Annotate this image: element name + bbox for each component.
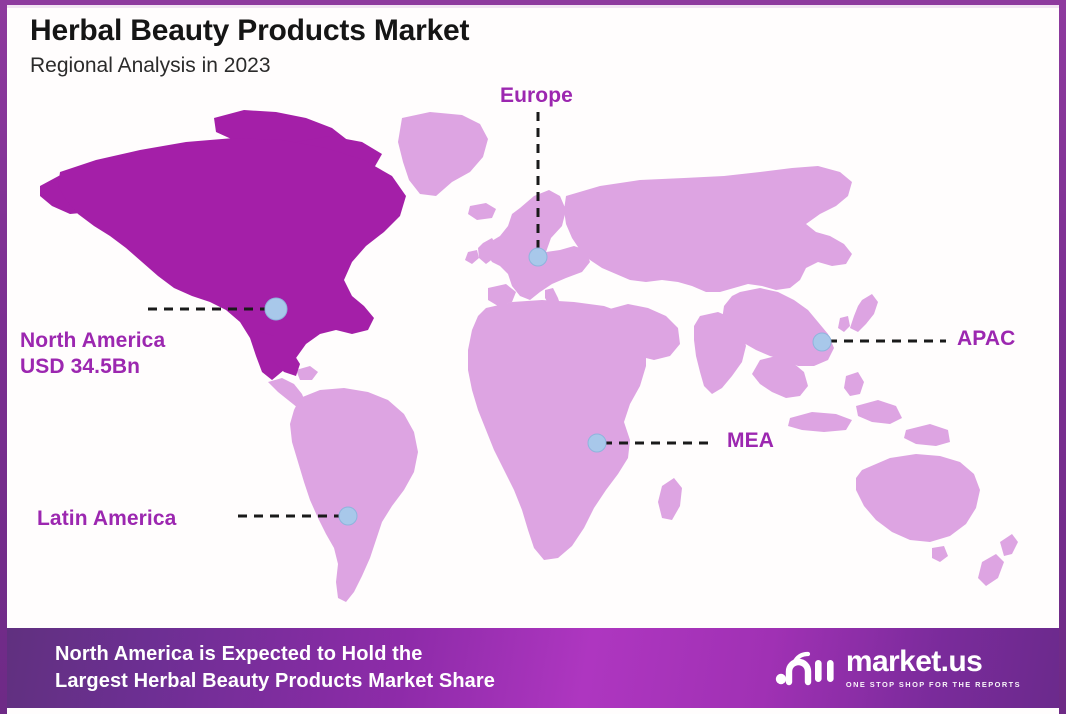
- region-central-america: [268, 378, 306, 408]
- marker-apac[interactable]: [813, 333, 831, 351]
- region-label-europe-text: Europe: [500, 84, 573, 107]
- region-africa: [468, 300, 646, 560]
- market-us-logo-icon: [775, 648, 837, 688]
- region-ireland: [465, 250, 479, 264]
- region-label-north-america-text: North America: [20, 329, 165, 352]
- region-new-zealand-south: [978, 554, 1004, 586]
- footer-banner: North America is Expected to Hold the La…: [7, 628, 1059, 708]
- marker-europe[interactable]: [529, 248, 547, 266]
- footer-statement-line2: Largest Herbal Beauty Products Market Sh…: [55, 668, 495, 695]
- marker-mea[interactable]: [588, 434, 606, 452]
- region-madagascar: [658, 478, 682, 520]
- footer-statement-line1: North America is Expected to Hold the: [55, 643, 422, 665]
- region-indonesia-1: [788, 412, 852, 432]
- region-label-north-america: North America USD 34.5Bn: [20, 328, 165, 381]
- region-png: [904, 424, 950, 446]
- region-tasmania: [932, 546, 948, 562]
- logo-text: market.us ONE STOP SHOP FOR THE REPORTS: [846, 647, 1021, 688]
- region-label-latin-america-text: Latin America: [37, 507, 176, 530]
- region-korea: [838, 316, 850, 332]
- region-label-latin-america: Latin America: [37, 506, 176, 532]
- brand-logo[interactable]: market.us ONE STOP SHOP FOR THE REPORTS: [775, 647, 1037, 688]
- region-south-america: [290, 388, 418, 602]
- logo-tagline: ONE STOP SHOP FOR THE REPORTS: [846, 681, 1021, 688]
- marker-north-america[interactable]: [265, 298, 287, 320]
- region-greenland: [398, 112, 488, 196]
- region-north-asia: [564, 166, 852, 292]
- marker-latin-america[interactable]: [339, 507, 357, 525]
- footer-statement: North America is Expected to Hold the La…: [55, 641, 495, 695]
- region-new-zealand: [1000, 534, 1018, 556]
- logo-wordmark: market.us: [846, 647, 1021, 677]
- infographic-root: Herbal Beauty Products Market Regional A…: [0, 0, 1066, 714]
- region-caribbean: [296, 366, 318, 380]
- region-value-north-america: USD 34.5Bn: [20, 354, 165, 380]
- region-australia: [856, 454, 980, 542]
- region-label-europe: Europe: [500, 83, 573, 109]
- region-iceland: [468, 203, 496, 220]
- region-label-apac-text: APAC: [957, 327, 1015, 350]
- region-philippines: [844, 372, 864, 396]
- region-label-mea-text: MEA: [727, 429, 774, 452]
- region-label-apac: APAC: [957, 326, 1015, 352]
- region-japan: [850, 294, 878, 332]
- region-label-mea: MEA: [727, 428, 774, 454]
- region-indonesia-2: [856, 400, 902, 424]
